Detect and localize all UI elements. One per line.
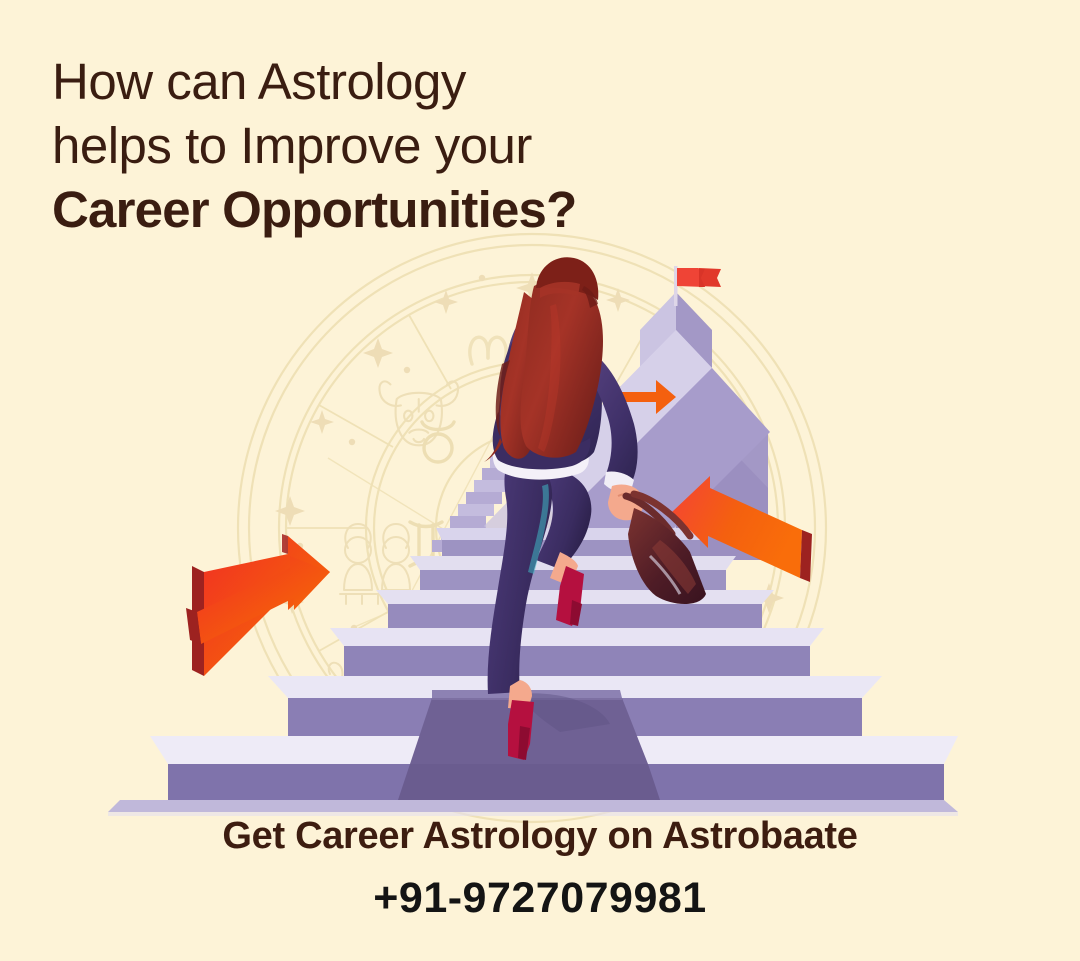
headline-line-2: helps to Improve your [52, 114, 752, 178]
poster-canvas: How can Astrology helps to Improve your … [0, 0, 1080, 961]
headline-line-3: Career Opportunities? [52, 178, 752, 242]
footer-phone-number[interactable]: +91-9727079981 [0, 872, 1080, 924]
headline: How can Astrology helps to Improve your … [52, 50, 752, 242]
headline-line-1: How can Astrology [52, 50, 752, 114]
footer-block: Get Career Astrology on Astrobaate +91-9… [0, 812, 1080, 924]
footer-cta-text: Get Career Astrology on Astrobaate [0, 812, 1080, 860]
